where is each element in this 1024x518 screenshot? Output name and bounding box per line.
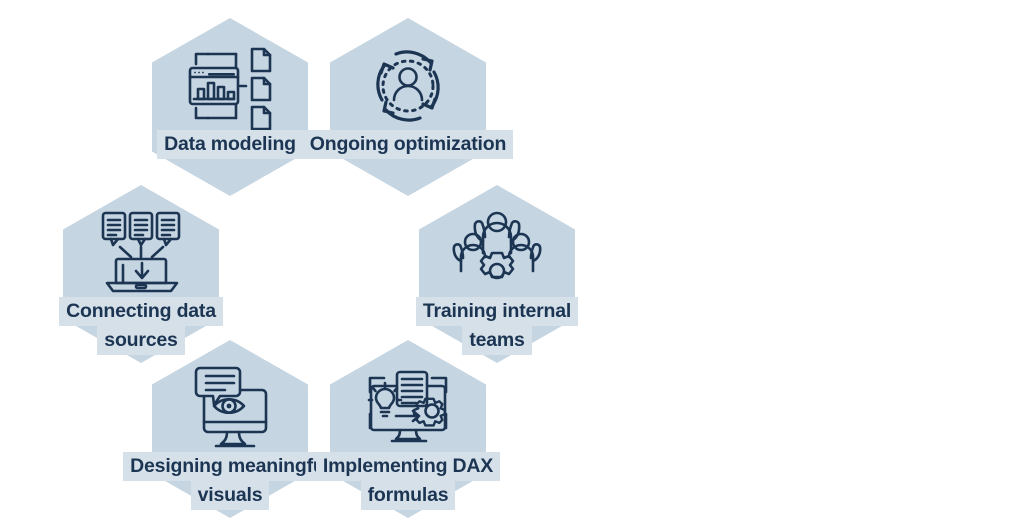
hex-node-training-internal-teams[interactable]: Training internal teams: [419, 185, 575, 363]
monitor-lightbulb-gear-icon: [356, 362, 460, 454]
laptop-data-import-icon: [89, 207, 193, 299]
hexagon-infographic: Data modeling Ongoing optimization: [0, 0, 1024, 518]
person-refresh-cycle-icon: [356, 40, 460, 132]
hex-node-ongoing-optimization[interactable]: Ongoing optimization: [330, 18, 486, 196]
hex-node-implementing-dax-formulas[interactable]: Implementing DAX formulas: [330, 340, 486, 518]
hex-node-data-modeling[interactable]: Data modeling: [152, 18, 308, 196]
hex-node-designing-meaningful-visuals[interactable]: Designing meaningful visuals: [152, 340, 308, 518]
monitor-eye-comment-icon: [178, 362, 282, 454]
team-gear-icon: [445, 207, 549, 299]
dashboard-documents-icon: [178, 40, 282, 132]
hex-node-connecting-data-sources[interactable]: Connecting data sources: [63, 185, 219, 363]
